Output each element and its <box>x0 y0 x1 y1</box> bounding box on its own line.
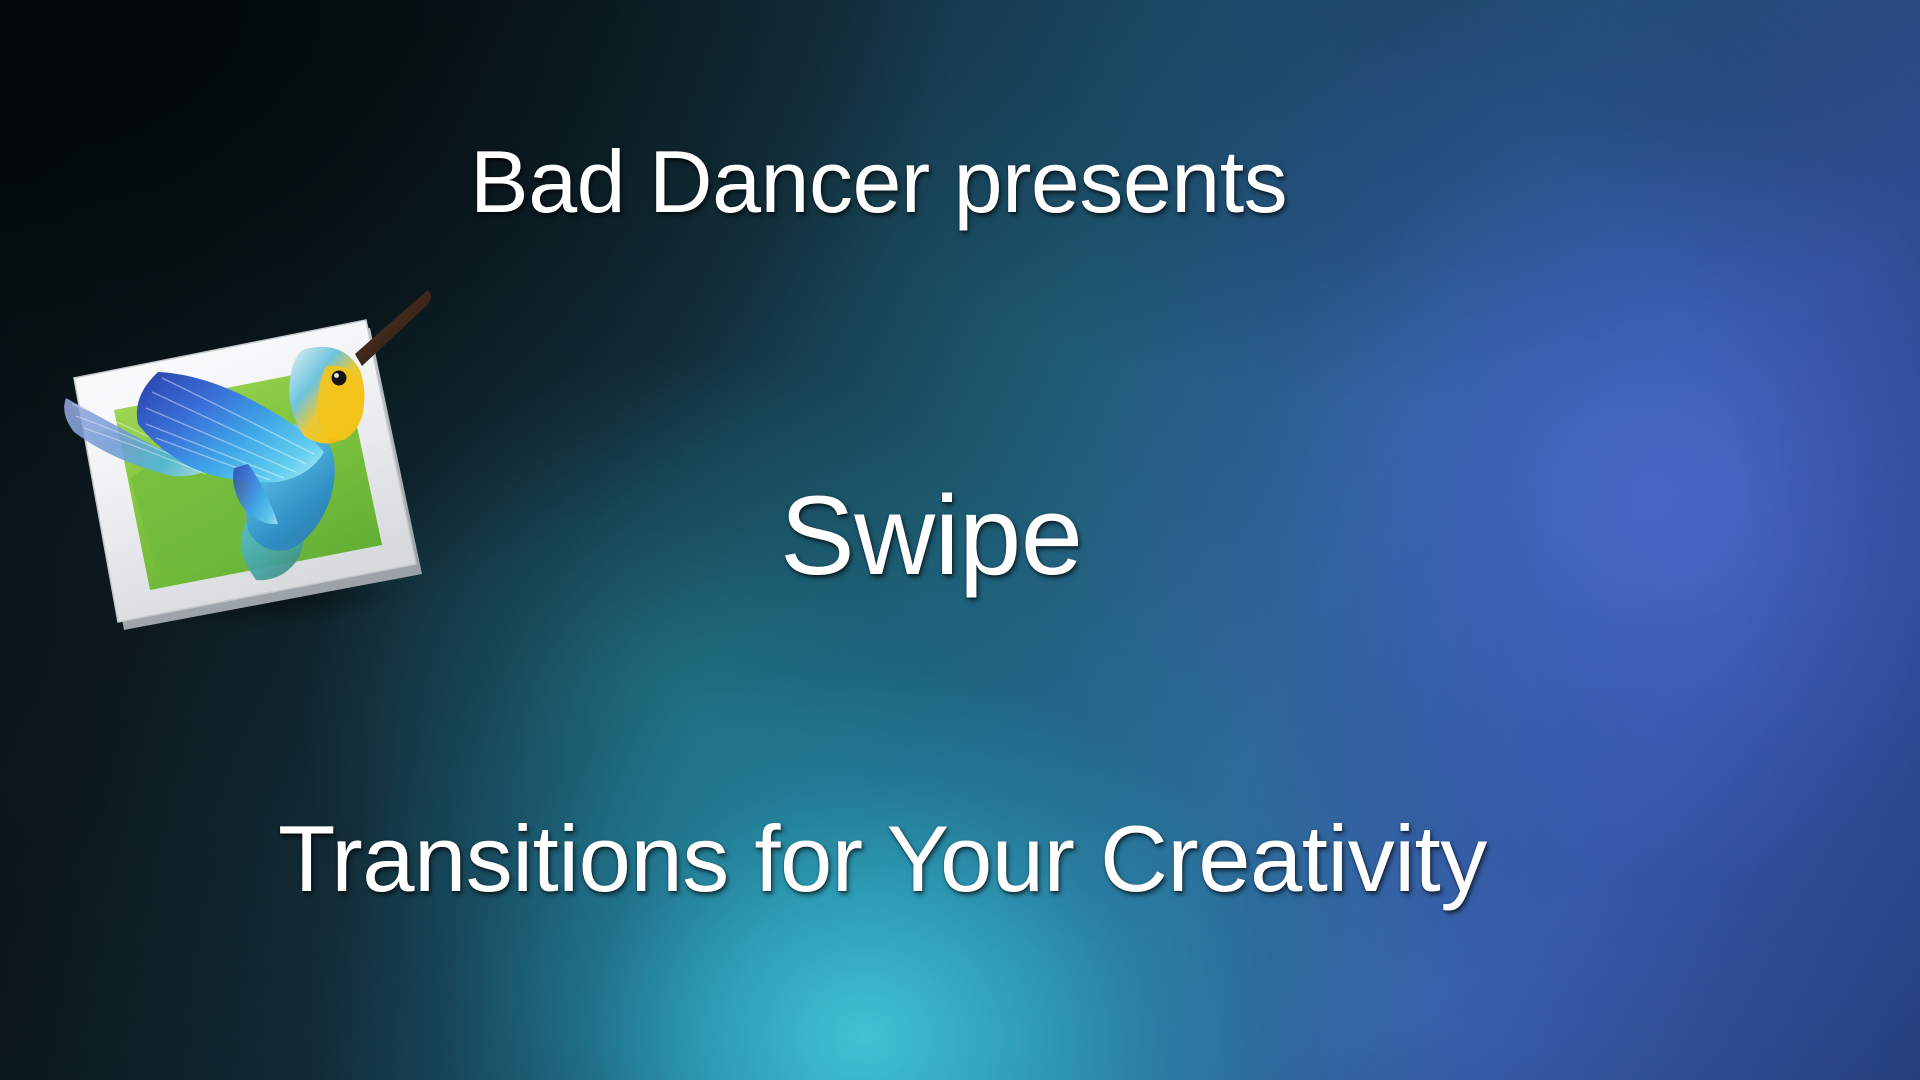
slide-canvas: Bad Dancer presents Swipe Transitions fo… <box>0 0 1920 1080</box>
hummingbird-eye <box>332 371 347 386</box>
tagline: Transitions for Your Creativity <box>278 812 1487 906</box>
presents-line: Bad Dancer presents <box>470 138 1287 226</box>
hummingbird-photo-frame-icon <box>52 238 442 638</box>
page-title: Swipe <box>780 480 1083 592</box>
hummingbird-photo-frame-icon-svg <box>52 238 442 638</box>
hummingbird-eye-highlight <box>334 373 339 378</box>
